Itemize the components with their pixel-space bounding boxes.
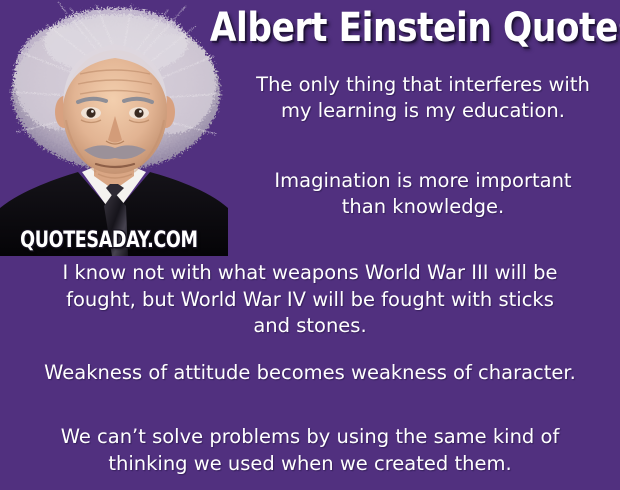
watermark-quotesaday[interactable]: QUOTESADAY.COM	[14, 228, 204, 254]
portrait-illustration	[0, 0, 228, 256]
quote-item-4: Weakness of attitude becomes weakness of…	[6, 360, 614, 386]
eye-highlight-left	[91, 110, 94, 113]
quote-item-3: I know not with what weapons World War I…	[6, 260, 614, 340]
quote-item-5: We can’t solve problems by using the sam…	[6, 424, 614, 477]
iris-left	[86, 108, 95, 117]
einstein-portrait-photo	[0, 0, 228, 256]
einstein-quotes-poster: QUOTESADAY.COM Albert Einstein Quotes Th…	[0, 0, 620, 490]
page-title-text: Albert Einstein Quotes	[210, 6, 620, 50]
page-title: Albert Einstein Quotes	[228, 2, 620, 54]
eye-highlight-right	[139, 110, 142, 113]
iris-right	[134, 108, 143, 117]
quote-item-1: The only thing that interferes with my l…	[232, 72, 614, 124]
quote-item-2: Imagination is more important than knowl…	[232, 168, 614, 220]
watermark-text: QUOTESADAY.COM	[20, 230, 197, 252]
